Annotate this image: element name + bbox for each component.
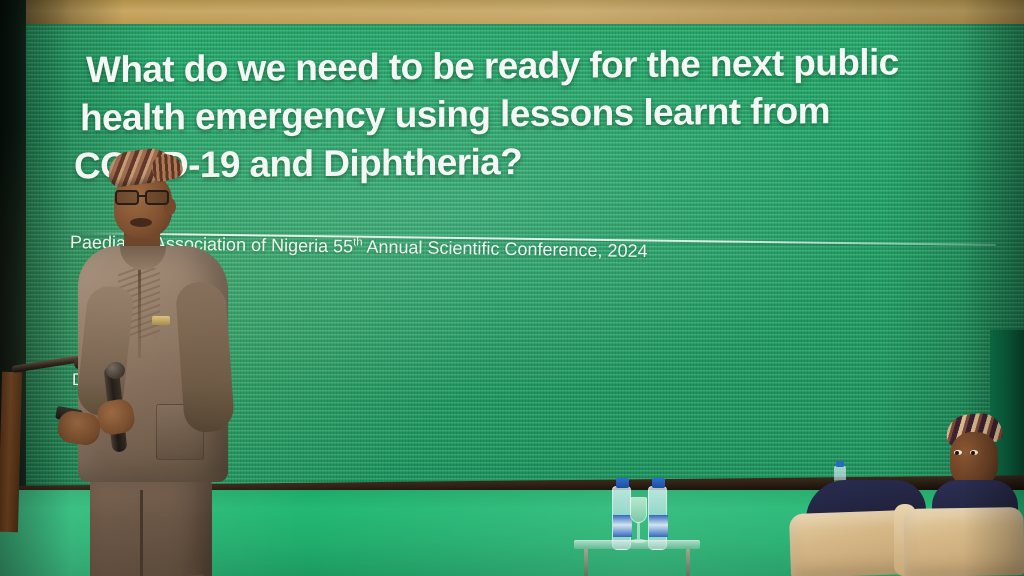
armchair — [903, 507, 1024, 576]
speaker-lapel-badge — [152, 316, 170, 325]
eyeglass-lens-left — [115, 190, 139, 205]
armchair — [789, 510, 911, 576]
speaker-trouser-seam — [140, 490, 143, 576]
eyeglass-lens-right — [145, 190, 169, 205]
speaker-mouth — [130, 218, 152, 227]
eyeglasses-icon — [113, 190, 173, 206]
panelist-pupil — [971, 451, 975, 455]
speaker-right-arm — [175, 280, 235, 433]
gold-valance-band — [24, 0, 1024, 24]
eyeglass-bridge — [139, 195, 147, 197]
drinking-glass — [630, 497, 647, 545]
bottle-label — [649, 515, 668, 537]
slide-subtitle-suffix: Annual Scientific Conference, 2024 — [362, 237, 647, 261]
valance-shading — [24, 0, 1024, 24]
slide-title-line-2: health emergency using lessons learnt fr… — [80, 86, 976, 143]
bottle-cap-icon — [616, 478, 629, 488]
side-table-leg — [584, 549, 588, 576]
side-table-top — [574, 540, 700, 549]
side-table-leg — [686, 549, 690, 576]
bottle-cap-icon — [836, 461, 844, 467]
standing-speaker — [60, 150, 240, 576]
side-table — [574, 540, 700, 576]
speaker-trousers — [90, 472, 212, 576]
slide-title-line-1: What do we need to be ready for the next… — [86, 38, 976, 95]
glass-stem — [637, 523, 640, 539]
speaker-kaftan-placket — [138, 262, 141, 358]
presentation-scene: What do we need to be ready for the next… — [0, 0, 1024, 576]
glass-bowl — [630, 497, 647, 523]
bottle-cap-icon — [652, 478, 665, 488]
panelist-pupil — [955, 451, 959, 455]
